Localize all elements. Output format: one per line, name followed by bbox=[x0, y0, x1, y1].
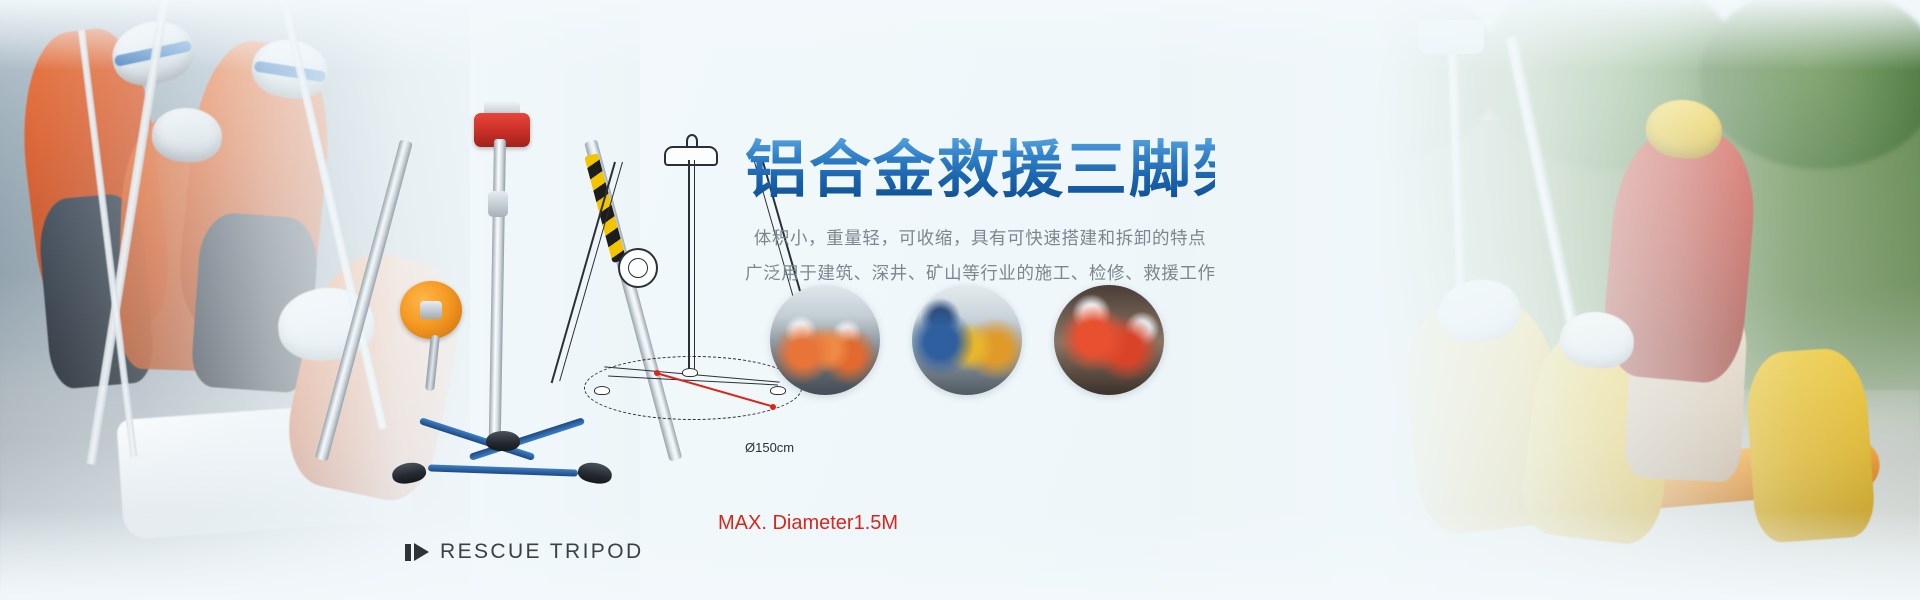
headline-text-block: 铝合金救援三脚架 体积小，重量轻，可收缩，具有可快速搭建和拆卸的特点 广泛用于建… bbox=[745, 138, 1215, 291]
thumbnail-gallery bbox=[770, 285, 1164, 395]
play-marker-icon bbox=[405, 543, 429, 561]
diameter-endpoint bbox=[770, 404, 776, 410]
drawing-head bbox=[664, 146, 718, 166]
promotional-banner: RESCUE TRIPOD Ø150cm MAX. Diameter1.5M 铝… bbox=[0, 0, 1920, 600]
subtitle-group: 体积小，重量轻，可收缩，具有可快速搭建和拆卸的特点 广泛用于建筑、深井、矿山等行… bbox=[745, 221, 1215, 291]
diameter-endpoint bbox=[654, 370, 660, 376]
rescue-tripod-label: RESCUE TRIPOD bbox=[405, 540, 644, 564]
tripod-foot bbox=[577, 460, 614, 486]
page-title: 铝合金救援三脚架 bbox=[745, 138, 1215, 203]
drawing-foot bbox=[682, 368, 698, 377]
thumbnail-workers-at-manhole-site bbox=[912, 285, 1022, 395]
blue-cross-brace bbox=[428, 464, 578, 476]
diameter-small-label: Ø150cm bbox=[745, 440, 794, 455]
tripod-foot bbox=[391, 460, 428, 486]
pulley bbox=[488, 191, 508, 217]
product-tripod-photo bbox=[388, 95, 618, 485]
drawing-leg bbox=[688, 160, 690, 374]
bottom-fade-overlay bbox=[0, 510, 1920, 600]
rescue-tripod-label-text: RESCUE TRIPOD bbox=[440, 540, 644, 564]
drawing-foot bbox=[594, 386, 610, 395]
max-diameter-label: MAX. Diameter1.5M bbox=[718, 512, 898, 535]
winch-hub bbox=[420, 301, 442, 319]
drawing-leg-edge bbox=[694, 160, 695, 372]
winch-handle bbox=[425, 335, 440, 392]
thumbnail-rescue-worker-signaling bbox=[1054, 285, 1164, 395]
thumbnail-rescue-team-field-operation bbox=[770, 285, 880, 395]
drawing-winch-hub bbox=[628, 258, 648, 278]
tripod-leg-center bbox=[489, 139, 506, 439]
top-fade-overlay bbox=[0, 0, 1920, 70]
subtitle-line-1: 体积小，重量轻，可收缩，具有可快速搭建和拆卸的特点 bbox=[745, 221, 1215, 256]
tripod-foot bbox=[486, 431, 520, 451]
